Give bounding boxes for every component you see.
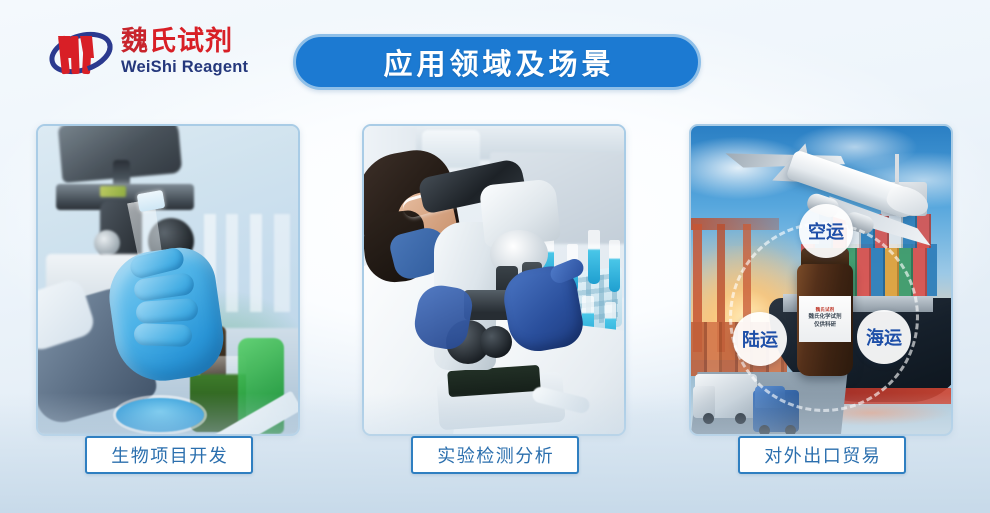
brand-name-cn: 魏氏试剂 xyxy=(121,28,248,55)
caption-label: 实验检测分析 xyxy=(436,442,555,468)
page-title: 应用领域及场景 xyxy=(379,41,614,83)
application-card-list: 魏氏试剂 魏氏化学试剂 仅供科研 空运 陆运 海运 xyxy=(0,124,990,436)
shipping-mode-land-freight: 陆运 xyxy=(733,312,787,366)
reagent-bottle-label: 魏氏试剂 魏氏化学试剂 仅供科研 xyxy=(799,296,851,342)
card-experimental-testing-analysis[interactable] xyxy=(362,124,626,436)
brand-logo-text: 魏氏试剂 WeiShi Reagent xyxy=(121,28,248,76)
card-bio-project-development[interactable] xyxy=(36,124,300,436)
card-foreign-export-trade[interactable]: 魏氏试剂 魏氏化学试剂 仅供科研 空运 陆运 海运 xyxy=(689,124,953,436)
brand-name-cn-rest: 氏试剂 xyxy=(149,26,233,57)
weishi-w-orbit-logo-icon xyxy=(47,24,115,80)
caption-experimental-testing-analysis: 实验检测分析 xyxy=(411,436,579,474)
brand-name-en: WeiShi Reagent xyxy=(121,59,248,76)
brand-name-cn-first: 魏 xyxy=(121,26,149,57)
photo-lab-flask xyxy=(38,126,298,434)
shipping-mode-air-freight: 空运 xyxy=(799,204,853,258)
brand-logo[interactable]: 魏氏试剂 WeiShi Reagent xyxy=(47,24,248,80)
bottle-label-line1: 魏氏化学试剂 xyxy=(808,314,841,321)
bottle-label-line2: 仅供科研 xyxy=(814,322,836,329)
slide-root: 魏氏试剂 WeiShi Reagent 应用领域及场景 xyxy=(0,0,990,513)
caption-foreign-export-trade: 对外出口贸易 xyxy=(738,436,906,474)
page-title-banner: 应用领域及场景 xyxy=(293,34,701,90)
caption-label: 对外出口贸易 xyxy=(763,442,882,468)
bottle-brand-mark: 魏氏试剂 xyxy=(816,309,835,314)
shipping-mode-sea-freight: 海运 xyxy=(857,310,911,364)
photo-logistics-shipping: 魏氏试剂 魏氏化学试剂 仅供科研 空运 陆运 海运 xyxy=(691,126,951,434)
caption-bio-project-development: 生物项目开发 xyxy=(85,436,253,474)
caption-label: 生物项目开发 xyxy=(110,442,229,468)
photo-microscope-researcher xyxy=(364,126,624,434)
